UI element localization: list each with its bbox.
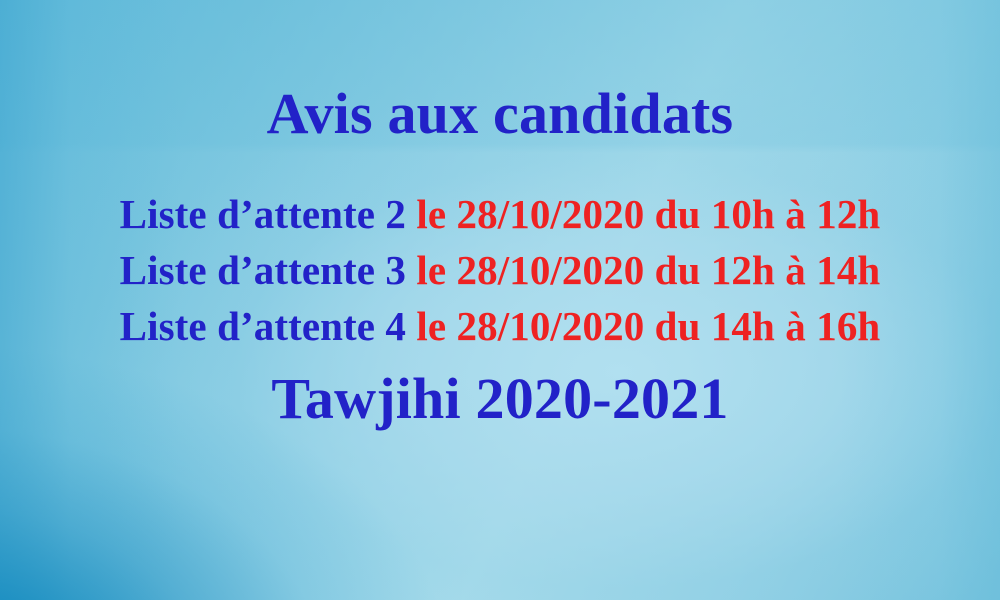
waiting-list-schedule: Liste d’attente 2 le 28/10/2020 du 10h à… [0,186,1000,354]
waiting-list-label: Liste d’attente 3 [120,247,406,293]
waiting-list-schedule-detail: le 28/10/2020 du 12h à 14h [416,247,880,293]
waiting-list-label: Liste d’attente 4 [120,303,406,349]
announcement-poster: Avis aux candidats Liste d’attente 2 le … [0,0,1000,600]
list-item: Liste d’attente 2 le 28/10/2020 du 10h à… [0,186,1000,242]
waiting-list-schedule-detail: le 28/10/2020 du 10h à 12h [416,191,880,237]
waiting-list-schedule-detail: le 28/10/2020 du 14h à 16h [416,303,880,349]
list-item: Liste d’attente 3 le 28/10/2020 du 12h à… [0,242,1000,298]
poster-title: Avis aux candidats [0,82,1000,146]
poster-subtitle: Tawjihi 2020-2021 [0,367,1000,431]
poster-content: Avis aux candidats Liste d’attente 2 le … [0,0,1000,600]
waiting-list-label: Liste d’attente 2 [120,191,406,237]
list-item: Liste d’attente 4 le 28/10/2020 du 14h à… [0,298,1000,354]
